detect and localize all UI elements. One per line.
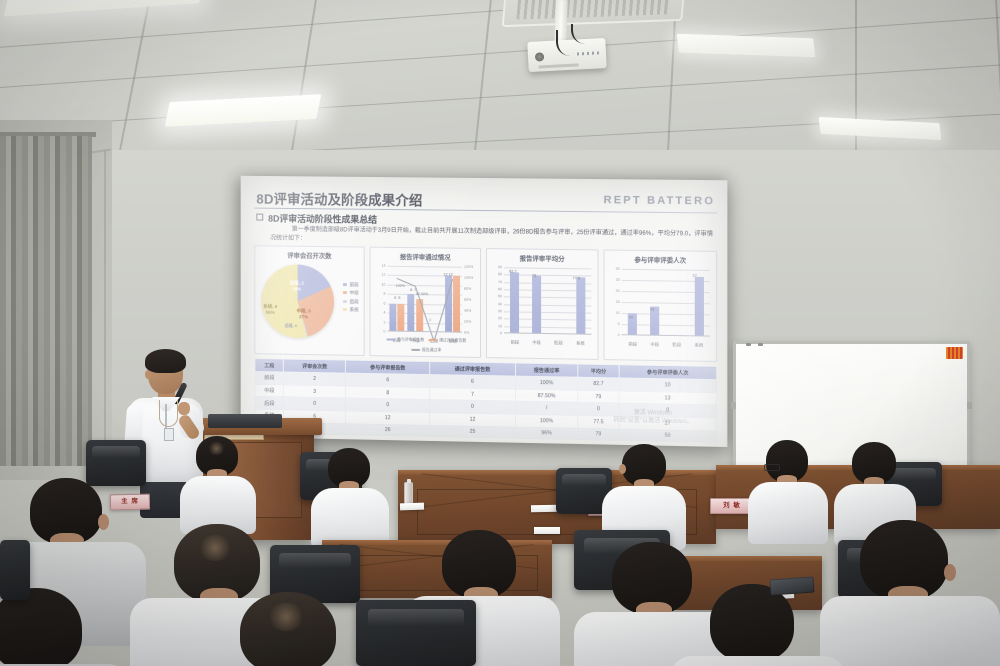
table-cell: 87.50% <box>515 389 578 403</box>
person-ear <box>944 564 956 581</box>
pie-legend-item: 后段 <box>343 298 358 307</box>
person-torso <box>820 596 1000 666</box>
chart-title-pass-rate: 报告评审通过情况 <box>371 252 480 262</box>
line-value-label: 87.50% <box>416 292 428 296</box>
ceiling-light-panel <box>818 117 941 140</box>
pie-legend-item: 系统 <box>343 306 358 315</box>
table-cell: 26 <box>346 423 430 436</box>
window-curtain <box>0 136 92 466</box>
table-cell: 中段 <box>255 384 284 397</box>
windows-activation-watermark: 激活 Windows 转到"设置"以激活 Windows。 <box>613 408 692 426</box>
presenter-hand <box>178 402 190 415</box>
table-cell: 2 <box>284 372 346 386</box>
table-cell: 100% <box>515 376 578 390</box>
chair <box>0 540 30 600</box>
x-axis-judges: 前段 中段 后段 系统 <box>622 341 710 348</box>
whiteboard-magnet-icon <box>758 343 763 346</box>
chair <box>356 600 476 666</box>
chart-plot-avg-score: 90 80 70 60 50 40 30 20 10 0 <box>487 263 597 355</box>
table-cell: 3 <box>284 385 346 399</box>
bar-value-label: 10 <box>629 315 633 319</box>
presenter-hair <box>145 349 186 373</box>
table-cell: 0 <box>284 397 346 411</box>
table-cell: 50 <box>619 429 717 443</box>
slide-title: 8D评审活动及阶段成果介绍 <box>256 188 422 210</box>
slide-body-text: 第一季度制造部级8D评审活动于3月9日开始，截止目前共开展11次制造部级评审，2… <box>270 225 713 249</box>
table-cell: / <box>515 402 578 416</box>
person-torso <box>670 656 846 666</box>
paper-sheet <box>400 503 424 511</box>
ceiling-light-panel <box>4 0 205 17</box>
legend-item: 参与评审报告数 <box>386 336 424 343</box>
table-header-cell: 工段 <box>255 359 284 373</box>
projection-screen: 8D评审活动及阶段成果介绍 REPT BATTERO 8D评审活动阶段性成果总结… <box>241 176 728 447</box>
table-cell: 前段 <box>255 372 284 385</box>
bar-value-label: 82.7 <box>509 269 516 273</box>
chart-title-pie: 评审会召开次数 <box>255 250 363 260</box>
y-axis-left: 14 12 10 8 6 4 2 0 <box>373 266 387 332</box>
chart-plot-judges: 30 25 20 15 10 5 0 <box>605 265 717 357</box>
whiteboard-bracket <box>967 402 972 409</box>
bar-value-label: 6 6 <box>394 296 400 300</box>
x-axis-avg-score: 前段 中段 后段 系统 <box>504 339 591 346</box>
chart-panel-avg-score: 报告评审平均分 90 80 70 60 50 40 30 20 10 0 <box>486 248 598 360</box>
chart-panel-pie: 评审会召开次数 前段, 218% 中段, 327% 后段, 0 <box>254 245 364 356</box>
ceiling-light-panel <box>677 34 816 58</box>
person-ear <box>619 464 626 474</box>
podium-monitor <box>208 414 282 428</box>
summary-table: 工段 评审会次数 参与评审报告数 通过评审报告数 报告通过率 平均分 参与评审评… <box>254 358 717 443</box>
pie-slices <box>261 264 334 338</box>
table-cell: 82.7 <box>578 377 619 390</box>
bar-value-label: 27 <box>693 274 697 278</box>
paper-sheet <box>534 527 560 534</box>
pie-label-3: 系统, 655% <box>263 304 277 315</box>
ceiling-light-panel <box>165 94 322 127</box>
chart-plot-pass-rate: 14 12 10 8 6 4 2 0 120% 100% 80% <box>371 262 480 353</box>
line-value-label: 100% <box>396 284 405 288</box>
company-logo: REPT BATTERO <box>604 194 716 207</box>
whiteboard-magnet-icon <box>746 343 751 346</box>
presenter-badge <box>164 428 174 441</box>
table-cell: 79 <box>578 428 619 440</box>
chart-panel-judges: 参与评审评委人次 30 25 20 15 10 5 0 <box>604 249 718 361</box>
legend-item: 报告通过率 <box>411 347 441 353</box>
air-vent <box>502 0 687 27</box>
table-cell: 25 <box>430 425 515 438</box>
table-header-cell: 报告通过率 <box>515 363 578 377</box>
chair <box>86 440 146 486</box>
person-head <box>240 592 336 666</box>
pie-label-1: 中段, 327% <box>297 308 311 319</box>
chart-panels: 评审会召开次数 前段, 218% 中段, 327% 后段, 0 <box>254 245 717 362</box>
bar-group-judges <box>622 269 710 337</box>
table-cell: 100% <box>515 414 578 428</box>
bar-value-label: 13 <box>650 307 654 311</box>
table-cell: 79 <box>578 390 619 403</box>
bar-value-label: 77.5 <box>573 276 580 280</box>
paper-sheet <box>531 505 559 512</box>
whiteboard-sticker-icon <box>946 347 963 359</box>
slide-bullet-label: 8D评审活动阶段性成果总结 <box>268 214 377 225</box>
laptop[interactable] <box>769 576 814 595</box>
eyeglasses <box>764 464 780 471</box>
person-torso <box>748 482 828 544</box>
pie-legend-item: 中段 <box>343 290 358 299</box>
legend-item: 通过评审报告数 <box>428 337 466 344</box>
table-cell: 96% <box>515 427 578 440</box>
pie-legend: 前段 中段 后段 系统 <box>343 281 358 315</box>
presentation-room-photo: 8D评审活动及阶段成果介绍 REPT BATTERO 8D评审活动阶段性成果总结… <box>0 0 1000 666</box>
table-cell: 后段 <box>255 397 284 410</box>
ceiling-rail <box>0 9 1000 97</box>
chart-panel-pass-rate: 报告评审通过情况 14 12 10 8 6 4 2 0 <box>370 247 481 358</box>
chart-title-avg-score: 报告评审平均分 <box>487 253 597 263</box>
table-header-cell: 评审会次数 <box>284 359 346 373</box>
bar-value-label: 79 <box>532 274 536 278</box>
y-axis-avg-score: 90 80 70 60 50 40 30 20 10 0 <box>489 267 503 333</box>
pie-legend-item: 前段 <box>343 281 358 290</box>
pie-label-0: 前段, 218% <box>290 280 304 291</box>
person-torso <box>311 488 389 548</box>
pie-label-2: 后段, 0 <box>285 324 297 329</box>
person-head <box>710 584 794 662</box>
chart-title-judges: 参与评审评委人次 <box>605 255 717 265</box>
bar-value-label: 0 <box>429 318 431 322</box>
y-axis-judges: 30 25 20 15 10 5 0 <box>607 269 621 336</box>
chart-legend-pass-rate: 参与评审报告数 通过评审报告数 报告通过率 <box>377 336 476 354</box>
slide-body-label: 第一季度制造部级8D评审活动于3月9日开始，截止目前共开展11次制造部级评审，2… <box>270 226 713 242</box>
whiteboard-bracket <box>731 402 736 409</box>
presenter-ear <box>145 370 151 379</box>
presenter-lanyard <box>159 400 178 427</box>
person-ear <box>98 514 109 530</box>
pie-chart: 前段, 218% 中段, 327% 后段, 0 系统, 655% <box>261 264 334 338</box>
table-header-cell: 平均分 <box>578 364 619 378</box>
slide-content: 8D评审活动及阶段成果介绍 REPT BATTERO 8D评审活动阶段性成果总结… <box>250 184 719 443</box>
name-placard[interactable]: 主 席 <box>110 494 150 511</box>
y-axis-right: 120% 100% 80% 60% 40% 20% 0% <box>463 267 479 333</box>
water-bottle <box>404 482 413 505</box>
bullet-square-icon <box>256 214 263 221</box>
wall-seam <box>104 150 106 450</box>
bar-value-label: 12 12 <box>443 272 452 276</box>
